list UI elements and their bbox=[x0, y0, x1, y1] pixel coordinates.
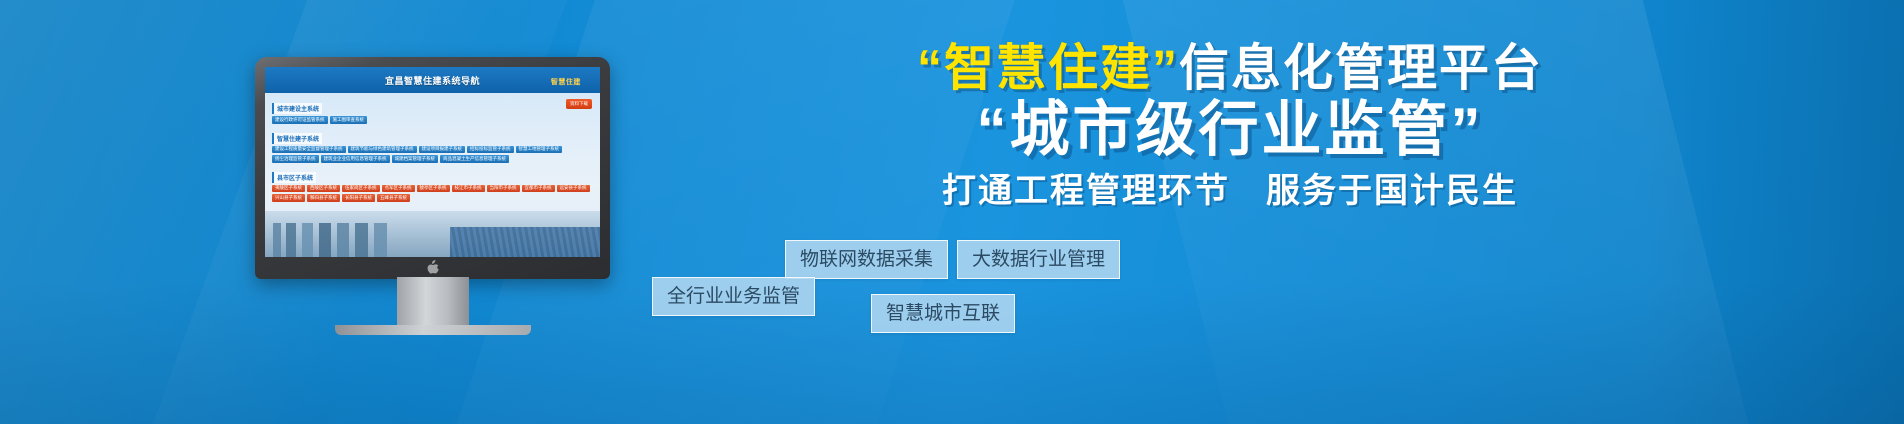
monitor-bezel: 宜昌智慧住建系统导航 智慧住建 INFORMATION SYSTEM 资料下载 … bbox=[255, 57, 610, 279]
screen-chip[interactable]: 智慧工地管理子系统 bbox=[516, 146, 563, 154]
headline-line-1-quoted: “智慧住建” bbox=[917, 40, 1179, 96]
screen-city-backdrop bbox=[265, 211, 600, 257]
screen-section-main: 城市建设主系统 建设行政许可证监管系统 施工图审查系统 bbox=[272, 98, 593, 124]
screen-chip[interactable]: 远安县子系统 bbox=[557, 185, 590, 193]
screen-chip[interactable]: 当阳市子系统 bbox=[487, 185, 520, 193]
monitor-stand-neck bbox=[397, 277, 469, 329]
screen-chip[interactable]: 点军区子系统 bbox=[382, 185, 415, 193]
screen-chip[interactable]: 商品混凝土生产信息管理子系统 bbox=[440, 155, 509, 163]
screen-chip[interactable]: 建设行政许可证监管系统 bbox=[272, 116, 328, 124]
monitor-screen: 宜昌智慧住建系统导航 智慧住建 INFORMATION SYSTEM 资料下载 … bbox=[265, 67, 600, 257]
screen-section-title: 城市建设主系统 bbox=[272, 103, 322, 114]
screen-chip[interactable]: 秭归县子系统 bbox=[307, 194, 340, 202]
screen-chip[interactable]: 长阳县子系统 bbox=[342, 194, 375, 202]
screen-chip[interactable]: 五峰县子系统 bbox=[377, 194, 410, 202]
screen-chip[interactable]: 城建档案管理子系统 bbox=[392, 155, 439, 163]
screen-chip[interactable]: 建筑节能与绿色建筑管理子系统 bbox=[348, 146, 417, 154]
screen-section-title: 县市区子系统 bbox=[272, 172, 316, 183]
feature-tag-smart-city[interactable]: 智慧城市互联 bbox=[871, 294, 1015, 333]
screen-logo-title: 智慧住建 bbox=[551, 79, 581, 86]
screen-chip[interactable]: 招标投标监管子系统 bbox=[467, 146, 514, 154]
feature-tag-bigdata[interactable]: 大数据行业管理 bbox=[957, 240, 1120, 279]
screen-download-button[interactable]: 资料下载 bbox=[566, 99, 592, 109]
screen-chip[interactable]: 施工图审查系统 bbox=[330, 116, 368, 124]
screen-section-chips: 建设工程质量安全监督管理子系统 建筑节能与绿色建筑管理子系统 建设项目报建子系统… bbox=[272, 146, 593, 163]
desktop-monitor-mockup: 宜昌智慧住建系统导航 智慧住建 INFORMATION SYSTEM 资料下载 … bbox=[255, 57, 610, 307]
screen-chip[interactable]: 枝江市子系统 bbox=[452, 185, 485, 193]
headline-line-2: “城市级行业监管” bbox=[640, 98, 1820, 163]
headline-line-1-rest: 信息化管理平台 bbox=[1179, 40, 1543, 96]
screen-header-title: 宜昌智慧住建系统导航 bbox=[385, 74, 480, 87]
screen-chip[interactable]: 夷陵区子系统 bbox=[272, 185, 305, 193]
screen-chip[interactable]: 西陵区子系统 bbox=[307, 185, 340, 193]
headline-line-3: 打通工程管理环节 服务于国计民生 bbox=[640, 173, 1820, 210]
screen-chip[interactable]: 建筑业企业信用信息管理子系统 bbox=[321, 155, 390, 163]
screen-section-chips: 建设行政许可证监管系统 施工图审查系统 bbox=[272, 116, 593, 124]
headline-line-1: “智慧住建”信息化管理平台 bbox=[640, 42, 1820, 94]
screen-chip[interactable]: 建设项目报建子系统 bbox=[419, 146, 466, 154]
screen-section-county: 县市区子系统 夷陵区子系统 西陵区子系统 伍家岗区子系统 点军区子系统 猇亭区子… bbox=[272, 167, 593, 202]
screen-body: 资料下载 城市建设主系统 建设行政许可证监管系统 施工图审查系统 智慧住建子系统… bbox=[265, 93, 600, 257]
screen-chip[interactable]: 建设工程质量安全监督管理子系统 bbox=[272, 146, 346, 154]
screen-chip[interactable]: 猇亭区子系统 bbox=[417, 185, 450, 193]
screen-chip[interactable]: 伍家岗区子系统 bbox=[342, 185, 380, 193]
headline-block: “智慧住建”信息化管理平台 “城市级行业监管” 打通工程管理环节 服务于国计民生 bbox=[640, 42, 1820, 210]
screen-section-sub: 智慧住建子系统 建设工程质量安全监督管理子系统 建筑节能与绿色建筑管理子系统 建… bbox=[272, 128, 593, 163]
screen-header: 宜昌智慧住建系统导航 智慧住建 INFORMATION SYSTEM bbox=[265, 67, 600, 93]
screen-chip[interactable]: 扬尘治理监管子系统 bbox=[272, 155, 319, 163]
monitor-stand-foot bbox=[335, 325, 531, 335]
feature-tag-iot[interactable]: 物联网数据采集 bbox=[785, 240, 948, 279]
screen-section-chips: 夷陵区子系统 西陵区子系统 伍家岗区子系统 点军区子系统 猇亭区子系统 枝江市子… bbox=[272, 185, 593, 202]
apple-logo-icon bbox=[426, 260, 439, 275]
screen-section-title: 智慧住建子系统 bbox=[272, 133, 322, 144]
screen-chip[interactable]: 兴山县子系统 bbox=[272, 194, 305, 202]
promo-banner: 宜昌智慧住建系统导航 智慧住建 INFORMATION SYSTEM 资料下载 … bbox=[0, 0, 1904, 424]
feature-tag-all-business[interactable]: 全行业业务监管 bbox=[652, 277, 815, 316]
screen-chip[interactable]: 宜都市子系统 bbox=[522, 185, 555, 193]
